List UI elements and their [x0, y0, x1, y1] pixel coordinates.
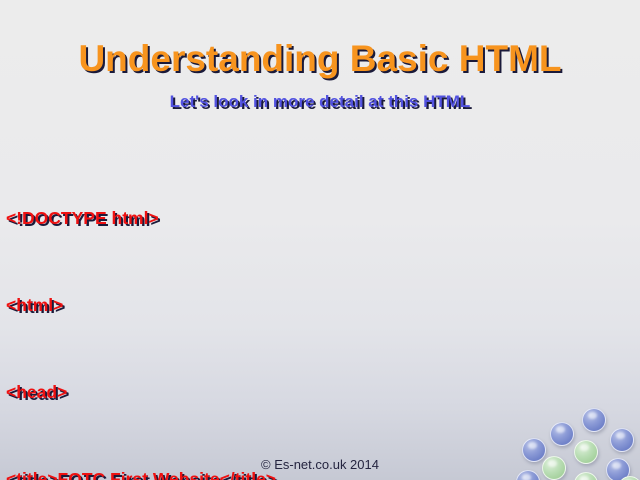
- bubble-blue: [610, 428, 634, 452]
- slide-canvas: Understanding Basic HTML Let's look in m…: [0, 0, 640, 480]
- page-title: Understanding Basic HTML: [0, 38, 640, 80]
- code-line: <!DOCTYPE html>: [6, 204, 276, 233]
- bubble-green: [618, 476, 640, 480]
- bubble-blue: [582, 408, 606, 432]
- bubble-blue: [550, 422, 574, 446]
- html-code-block: <!DOCTYPE html> <html> <head> <title>FOT…: [6, 146, 276, 480]
- code-line: <head>: [6, 378, 276, 407]
- page-subtitle: Let's look in more detail at this HTML: [0, 92, 640, 112]
- bubble-green: [574, 472, 598, 480]
- copyright-footer: © Es-net.co.uk 2014: [0, 457, 640, 472]
- code-line: <html>: [6, 291, 276, 320]
